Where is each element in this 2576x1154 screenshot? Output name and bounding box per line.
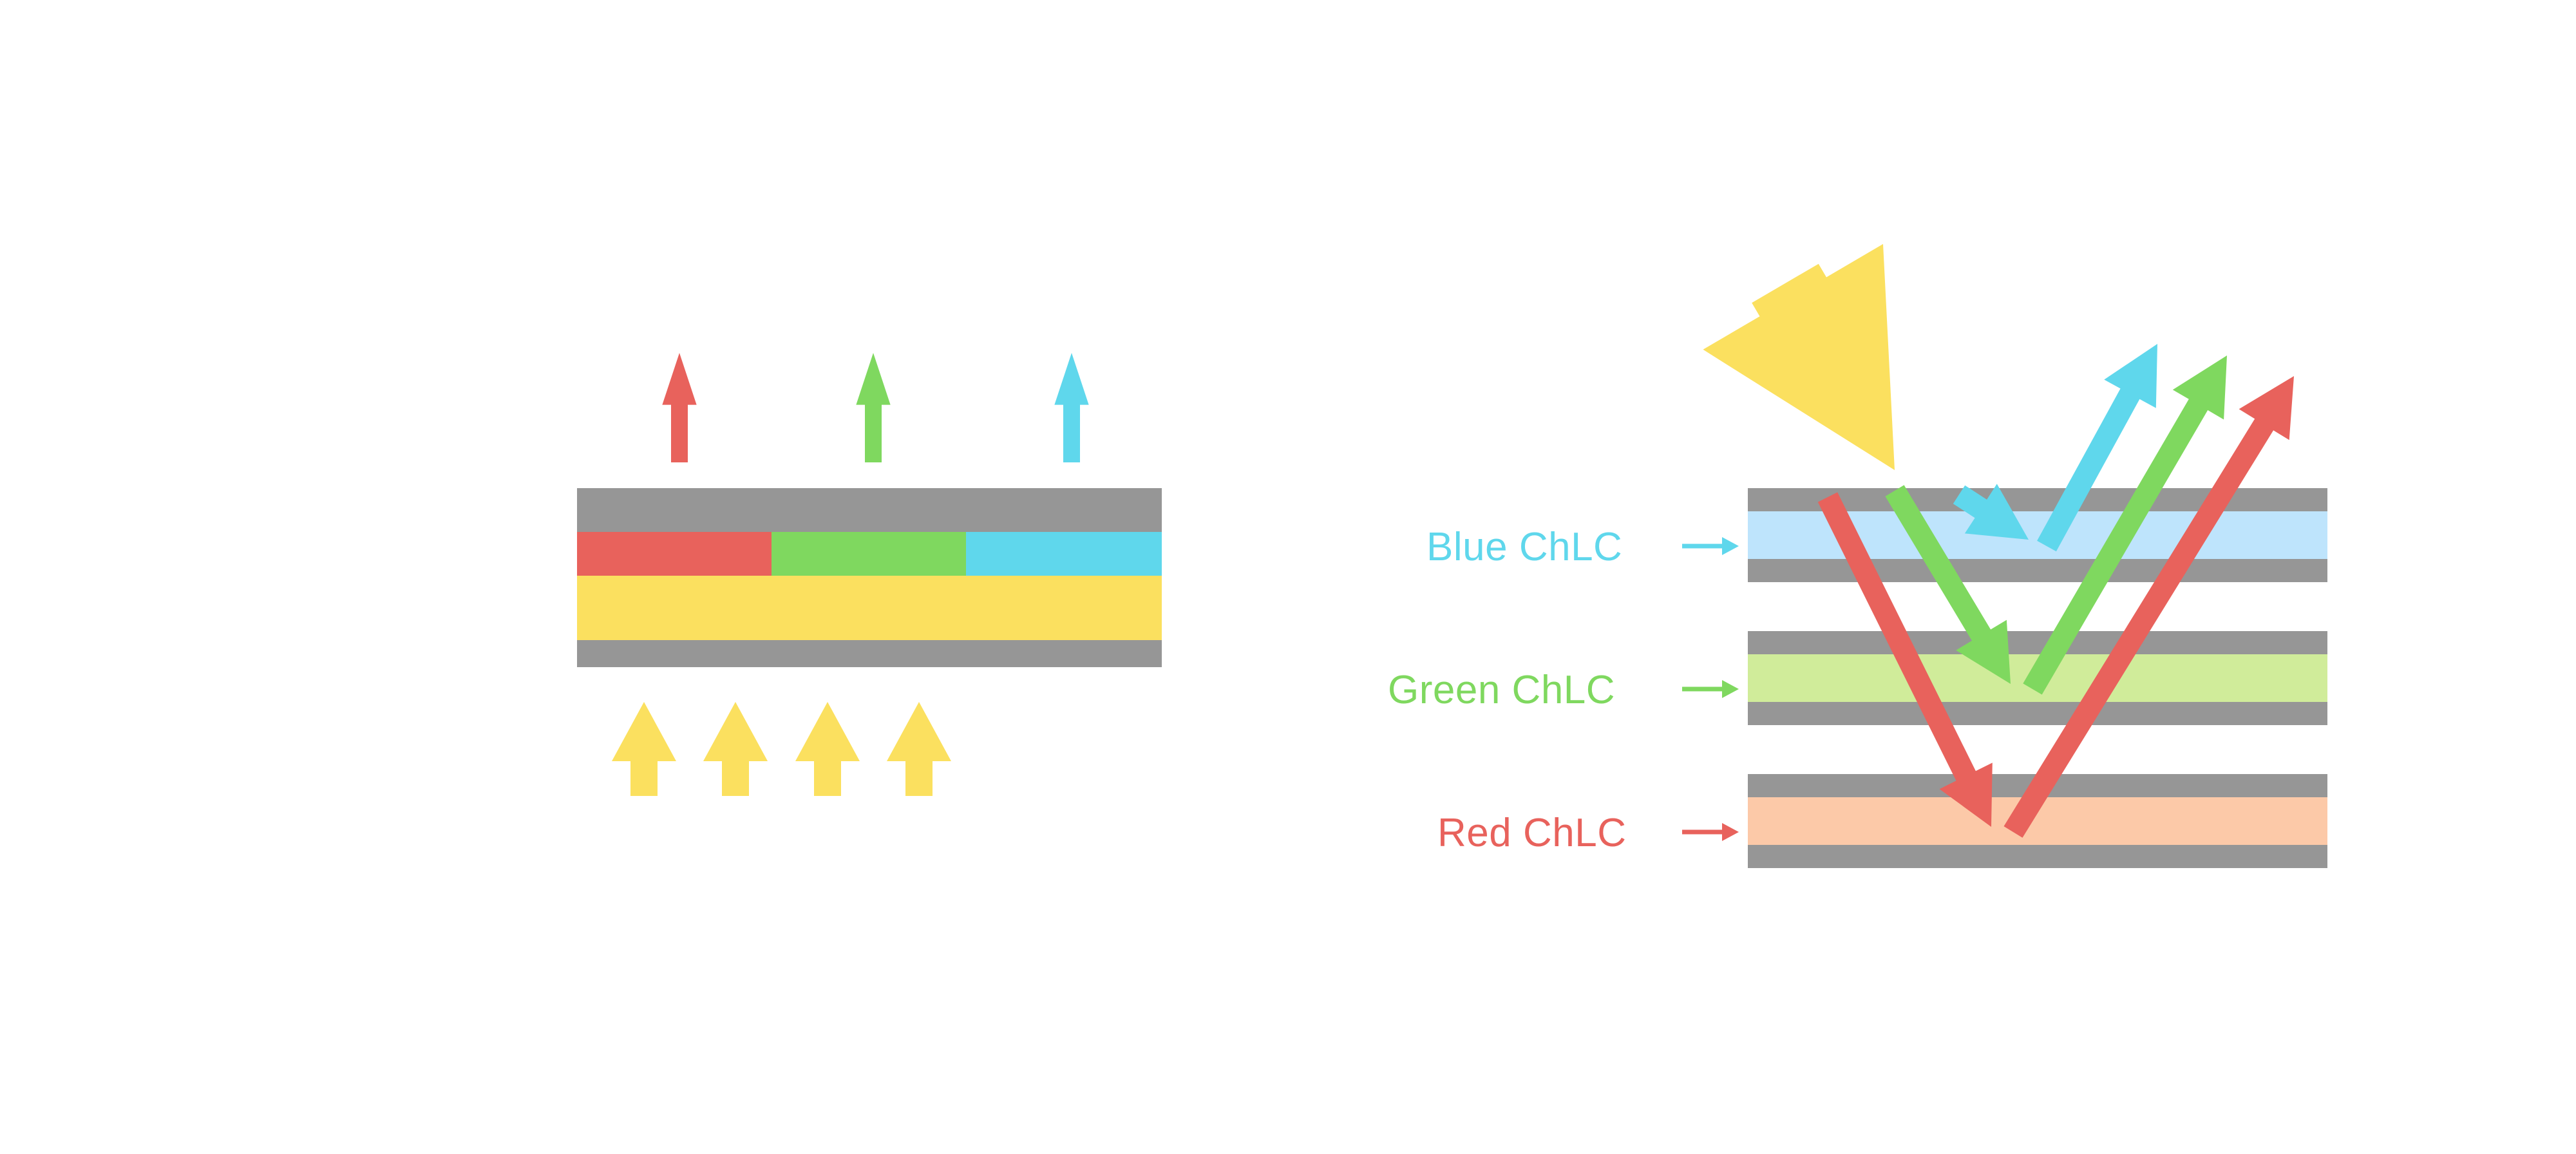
red-filter-segment (577, 532, 772, 576)
blue-cell-bottom-electrode (1748, 559, 2327, 582)
cyan-filter-segment (966, 532, 1162, 576)
top-electrode-layer (577, 488, 1162, 532)
green-cell-bottom-electrode (1748, 702, 2327, 725)
diagram-figure: Blue ChLCGreen ChLCRed ChLC (0, 0, 2576, 1154)
red-chlc-cell-label: Red ChLC (1437, 811, 1626, 855)
chlc-display-diagram: Blue ChLCGreen ChLCRed ChLC (0, 0, 2576, 1154)
green-cell-top-electrode (1748, 631, 2327, 654)
green-filter-segment (772, 532, 966, 576)
green-chlc-cell-label: Green ChLC (1388, 668, 1615, 712)
red-cell-bottom-electrode (1748, 845, 2327, 868)
blue-chlc-cell-label: Blue ChLC (1426, 525, 1622, 569)
left-stack-layers (577, 488, 1162, 667)
yellow-backlight-layer (577, 576, 1162, 640)
bottom-electrode-layer (577, 640, 1162, 667)
